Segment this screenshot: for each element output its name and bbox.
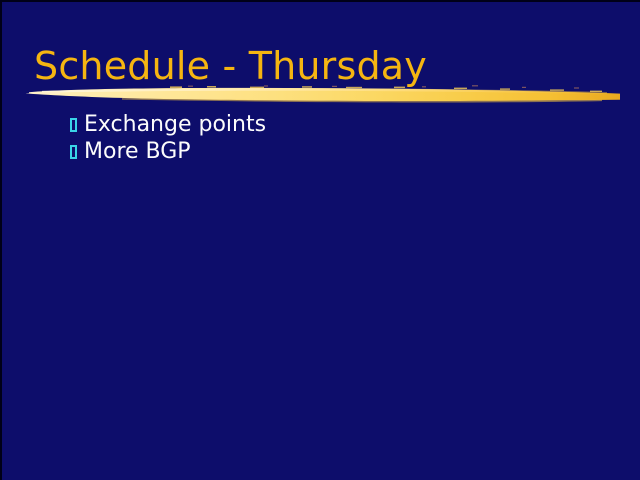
page-title: Schedule - Thursday: [34, 44, 427, 88]
slide-canvas: Schedule - Thursday: [0, 0, 640, 480]
list-item-label: Exchange points: [84, 112, 266, 138]
list-item: Exchange points: [70, 112, 610, 139]
list-item-label: More BGP: [84, 139, 191, 165]
list-item: More BGP: [70, 139, 610, 166]
bullet-list: Exchange points More BGP: [70, 112, 610, 166]
tofu-box-bullet-icon: [70, 145, 77, 159]
tofu-box-bullet-icon: [70, 118, 77, 132]
